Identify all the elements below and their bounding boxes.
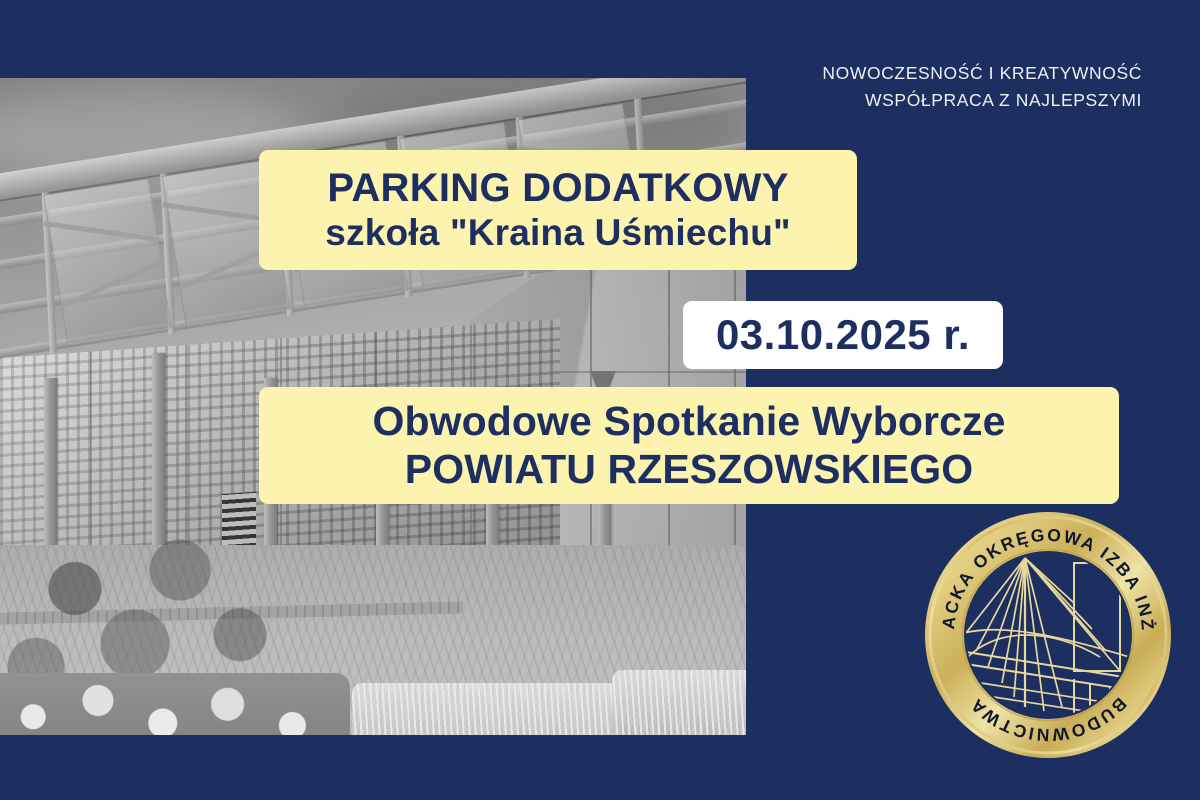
banner-meeting: Obwodowe Spotkanie Wyborcze POWIATU RZES… — [259, 387, 1119, 504]
tagline-line-1: NOWOCZESNOŚĆ I KREATYWNOŚĆ — [822, 60, 1142, 87]
event-date: 03.10.2025 r. — [716, 314, 970, 356]
banner-parking: PARKING DODATKOWY szkoła "Kraina Uśmiech… — [259, 150, 857, 270]
tagline: NOWOCZESNOŚĆ I KREATYWNOŚĆ WSPÓŁPRACA Z … — [822, 60, 1142, 114]
poiib-logo: PODKARPACKA OKRĘGOWA IZBA INŻYNIERÓW BUD… — [924, 511, 1172, 759]
tagline-line-2: WSPÓŁPRACA Z NAJLEPSZYMI — [822, 87, 1142, 114]
banner-meeting-line-1: Obwodowe Spotkanie Wyborcze — [373, 399, 1006, 444]
ornamental-grass — [352, 683, 622, 735]
banner-parking-line-2: szkoła "Kraina Uśmiechu" — [325, 212, 791, 253]
ornamental-grass — [612, 670, 746, 735]
banner-meeting-line-2: POWIATU RZESZOWSKIEGO — [405, 447, 974, 492]
poster-canvas: NOWOCZESNOŚĆ I KREATYWNOŚĆ WSPÓŁPRACA Z … — [0, 0, 1200, 800]
hedge — [0, 673, 350, 735]
banner-parking-line-1: PARKING DODATKOWY — [327, 167, 788, 210]
banner-date: 03.10.2025 r. — [683, 301, 1003, 369]
